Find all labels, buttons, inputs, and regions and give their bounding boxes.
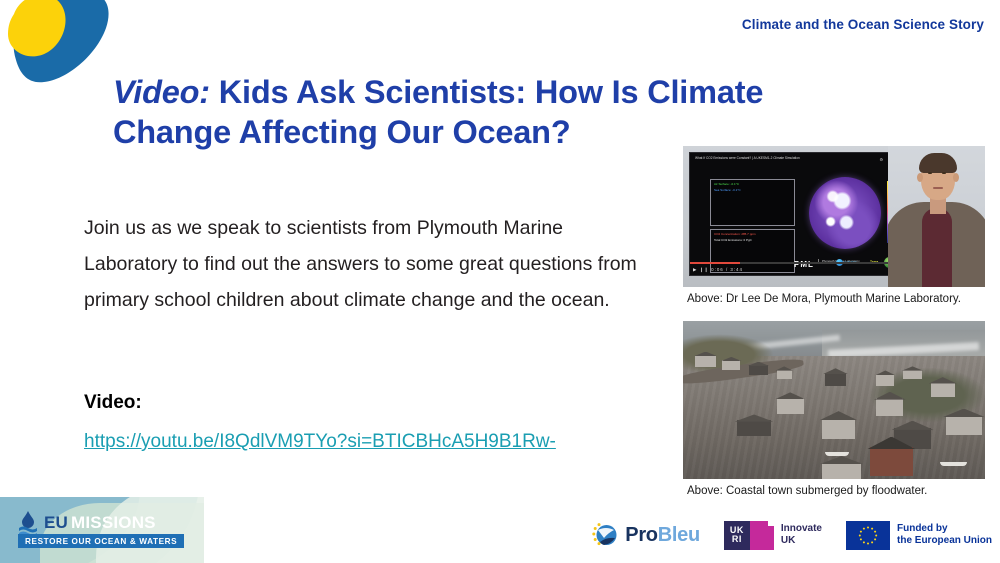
probleu-bleu: Bleu <box>658 524 700 546</box>
temperature-plot: Air Surface: -0.1°C Sea Surface: -0.1°C <box>710 179 795 226</box>
presentation-screen: What If CO2 Emissions were Constant? | A… <box>689 152 899 276</box>
eu-missions-missions-text: MISSIONS <box>71 513 156 533</box>
eu-funding-line2: the European Union <box>897 535 992 546</box>
title-kicker: Video: <box>113 74 210 110</box>
eu-funding-logo: Funded by the European Union <box>846 521 992 550</box>
probleu-globe-icon <box>592 521 620 549</box>
innovate-uk-text: Innovate UK <box>781 523 822 548</box>
presenter-figure <box>888 146 985 287</box>
ukri-letters: UKRI <box>724 521 750 550</box>
video-link[interactable]: https://youtu.be/I8QdlVM9TYo?si=BTICBHcA… <box>84 431 556 453</box>
video-label: Video: <box>84 392 142 414</box>
slide-canvas: Climate and the Ocean Science Story Vide… <box>0 0 1000 563</box>
globe-visualisation <box>809 177 881 249</box>
eu-flag-icon <box>846 521 890 550</box>
probleu-pro: Pro <box>625 524 657 546</box>
player-progress-bar[interactable] <box>690 262 898 264</box>
eu-missions-tagline: RESTORE OUR OCEAN & WATERS <box>18 534 184 548</box>
innovate-uk-line1: Innovate <box>781 523 822 534</box>
innovate-uk-line2: UK <box>781 535 795 546</box>
caption-bottom-image: Above: Coastal town submerged by floodwa… <box>683 484 985 499</box>
player-controls[interactable]: ▶ ❙❙ 0:06 / 3:44 <box>693 267 743 273</box>
footer-logo-strip: ProBleu UKRI Innovate UK <box>592 515 992 555</box>
eu-funding-text: Funded by the European Union <box>897 523 992 548</box>
body-paragraph: Join us as we speak to scientists from P… <box>84 210 654 318</box>
legend-air-surface: Air Surface: -0.1°C <box>714 182 739 186</box>
eu-missions-eu-text: EU <box>44 513 68 533</box>
presenter-hair <box>919 153 957 173</box>
presenter-shirt <box>922 208 952 287</box>
ukri-mark-icon: UKRI <box>724 521 774 550</box>
ocean-wave-logo <box>0 0 110 102</box>
screen-title: What If CO2 Emissions were Constant? | A… <box>695 156 800 160</box>
probleu-logo: ProBleu <box>592 521 700 549</box>
flood-photo-image <box>683 321 985 479</box>
eu-missions-logo: EU MISSIONS RESTORE OUR OCEAN & WATERS <box>0 497 204 563</box>
ukri-innovate-uk-logo: UKRI Innovate UK <box>724 521 822 550</box>
title-main: Kids Ask Scientists: How Is Climate Chan… <box>113 74 763 151</box>
video-still-image[interactable]: What If CO2 Emissions were Constant? | A… <box>683 146 985 287</box>
probleu-wordmark: ProBleu <box>625 524 700 547</box>
legend-sea-surface: Sea Surface: -0.1°C <box>714 188 741 192</box>
page-title: Video: Kids Ask Scientists: How Is Clima… <box>113 72 873 153</box>
caption-top-image: Above: Dr Lee De Mora, Plymouth Marine L… <box>683 292 985 307</box>
media-column: What If CO2 Emissions were Constant? | A… <box>683 146 985 499</box>
eu-funding-line1: Funded by <box>897 523 948 534</box>
header-strap: Climate and the Ocean Science Story <box>742 17 984 32</box>
legend-total-emissions: Total CO2 Emissions: 0 PgC <box>714 238 752 242</box>
legend-co2-concentration: CO2 Concentration: 285.7 ppm <box>714 232 756 236</box>
